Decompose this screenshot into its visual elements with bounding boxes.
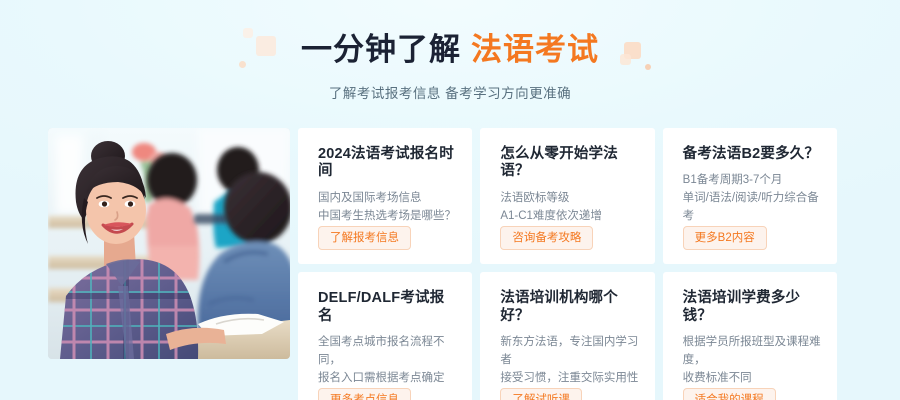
card-title: 怎么从零开始学法语？ bbox=[500, 146, 638, 181]
card-title: 2024法语考试报名时间 bbox=[318, 146, 456, 181]
card-description-line: 国内及国际考场信息 bbox=[318, 190, 456, 208]
card-cta-button[interactable]: 咨询备考攻略 bbox=[500, 226, 593, 251]
decoration-dot-right bbox=[645, 64, 651, 70]
info-card-grid: 2024法语考试报名时间 国内及国际考场信息 中国考生热选考场是哪些？ 了解报考… bbox=[298, 128, 837, 359]
french-exam-landing-section: 一分钟了解法语考试 了解考试报考信息 备考学习方向更准确 bbox=[0, 0, 900, 400]
page-title: 一分钟了解法语考试 bbox=[301, 34, 599, 65]
section-header: 一分钟了解法语考试 了解考试报考信息 备考学习方向更准确 bbox=[0, 34, 900, 102]
card-description-line: 全国考点城市报名流程不同， bbox=[318, 334, 456, 370]
card-title: 备考法语B2要多久？ bbox=[683, 146, 821, 163]
decoration-square-left-1 bbox=[256, 36, 276, 56]
card-description-line: A1-C1难度依次递增 bbox=[500, 208, 638, 226]
page-title-accent: 法语考试 bbox=[471, 32, 599, 67]
page-title-main: 一分钟了解 bbox=[301, 32, 461, 67]
card-description-line: 法语欧标等级 bbox=[500, 190, 638, 208]
card-description-line: B1备考周期3-7个月 bbox=[683, 172, 821, 190]
card-description-line: 中国考生热选考场是哪些？ bbox=[318, 208, 456, 226]
info-card[interactable]: 2024法语考试报名时间 国内及国际考场信息 中国考生热选考场是哪些？ 了解报考… bbox=[298, 128, 472, 264]
info-card[interactable]: 法语培训学费多少钱？ 根据学员所报班型及课程难度， 收费标准不同 适合我的课程 bbox=[663, 272, 837, 400]
card-cta-button[interactable]: 更多考点信息 bbox=[318, 388, 411, 400]
card-description: 新东方法语，专注国内学习者 接受习惯，注重交际实用性 bbox=[500, 334, 638, 387]
card-description: 全国考点城市报名流程不同， 报名入口需根据考点确定 bbox=[318, 334, 456, 387]
card-title: 法语培训学费多少钱？ bbox=[683, 290, 821, 325]
card-description: 法语欧标等级 A1-C1难度依次递增 bbox=[500, 190, 638, 226]
card-cta-button[interactable]: 了解试听课 bbox=[500, 388, 582, 400]
card-description: 国内及国际考场信息 中国考生热选考场是哪些？ bbox=[318, 190, 456, 226]
info-card[interactable]: DELF/DALF考试报名 全国考点城市报名流程不同， 报名入口需根据考点确定 … bbox=[298, 272, 472, 400]
card-description: 根据学员所报班型及课程难度， 收费标准不同 bbox=[683, 334, 821, 387]
decoration-square-right-1 bbox=[624, 42, 641, 59]
card-description: B1备考周期3-7个月 单词/语法/阅读/听力综合备考 bbox=[683, 172, 821, 225]
card-cta-button[interactable]: 了解报考信息 bbox=[318, 226, 411, 251]
decoration-dot-left bbox=[239, 61, 246, 68]
content-area: 2024法语考试报名时间 国内及国际考场信息 中国考生热选考场是哪些？ 了解报考… bbox=[48, 128, 837, 359]
card-description-line: 收费标准不同 bbox=[683, 370, 821, 388]
card-cta-button[interactable]: 适合我的课程 bbox=[683, 388, 776, 400]
card-cta-button[interactable]: 更多B2内容 bbox=[683, 226, 767, 251]
card-description-line: 新东方法语，专注国内学习者 bbox=[500, 334, 638, 370]
info-card[interactable]: 备考法语B2要多久？ B1备考周期3-7个月 单词/语法/阅读/听力综合备考 更… bbox=[663, 128, 837, 264]
info-card[interactable]: 法语培训机构哪个好？ 新东方法语，专注国内学习者 接受习惯，注重交际实用性 了解… bbox=[480, 272, 654, 400]
info-card[interactable]: 怎么从零开始学法语？ 法语欧标等级 A1-C1难度依次递增 咨询备考攻略 bbox=[480, 128, 654, 264]
card-description-line: 根据学员所报班型及课程难度， bbox=[683, 334, 821, 370]
card-title: 法语培训机构哪个好？ bbox=[500, 290, 638, 325]
decoration-square-right-2 bbox=[620, 54, 631, 65]
classroom-student-photo bbox=[48, 128, 290, 359]
decoration-square-left-2 bbox=[243, 28, 253, 38]
page-subtitle: 了解考试报考信息 备考学习方向更准确 bbox=[0, 82, 900, 102]
card-description-line: 报名入口需根据考点确定 bbox=[318, 370, 456, 388]
card-title: DELF/DALF考试报名 bbox=[318, 290, 456, 325]
card-description-line: 接受习惯，注重交际实用性 bbox=[500, 370, 638, 388]
card-description-line: 单词/语法/阅读/听力综合备考 bbox=[683, 190, 821, 226]
